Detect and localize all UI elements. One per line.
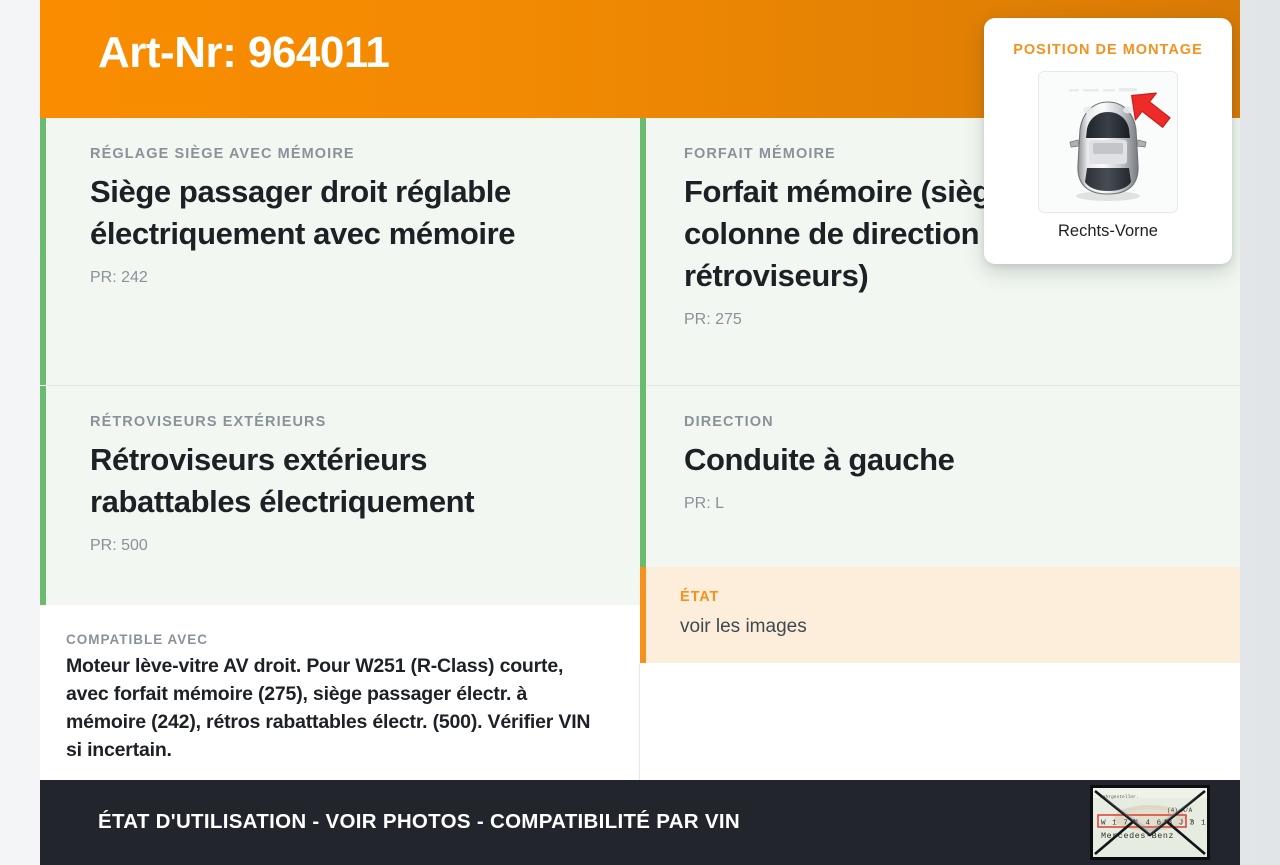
envelope-icon: Fahrgestellnr. (4) A/A W 1 7 1 4 6 3 J 3… (1093, 788, 1207, 857)
spec-pr-code: PR: 275 (684, 311, 1196, 329)
spec-pr-code: PR: 242 (90, 269, 596, 287)
thumbnail-vin-suffix: 7 (1189, 820, 1193, 828)
spec-label: RÉTROVISEURS EXTÉRIEURS (90, 414, 596, 430)
spec-title: Conduite à gauche (684, 439, 1196, 481)
car-diagram (1038, 71, 1178, 213)
divider-left-horizontal (46, 385, 640, 386)
compatibility-text: Moteur lève-vitre AV droit. Pour W251 (R… (66, 653, 596, 765)
spec-title: Rétroviseurs extérieurs rabattables élec… (90, 439, 596, 523)
footer-notice: ÉTAT D'UTILISATION - VOIR PHOTOS - COMPA… (98, 810, 740, 834)
mounting-position-card: POSITION DE MONTAGE (984, 18, 1232, 264)
spec-label: RÉGLAGE SIÈGE AVEC MÉMOIRE (90, 146, 596, 162)
compatibility-block: COMPATIBLE AVEC Moteur lève-vitre AV dro… (40, 606, 640, 780)
spec-cell-mirrors: RÉTROVISEURS EXTÉRIEURS Rétroviseurs ext… (40, 386, 640, 605)
spec-pr-code: PR: 500 (90, 537, 596, 555)
condition-label: ÉTAT (680, 589, 1196, 605)
condition-block: ÉTAT voir les images (640, 567, 1240, 663)
spec-title: Siège passager droit réglable électrique… (90, 171, 596, 255)
divider-right-horizontal (640, 385, 1240, 386)
condition-value: voir les images (680, 614, 1196, 641)
vin-document-thumbnail: Fahrgestellnr. (4) A/A W 1 7 1 4 6 3 J 3… (1090, 785, 1210, 860)
red-arrow-icon (1123, 86, 1175, 132)
product-sheet: Art-Nr: 964011 RÉGLAGE SIÈGE AVEC MÉMOIR… (40, 0, 1240, 865)
spec-cell-seat-memory: RÉGLAGE SIÈGE AVEC MÉMOIRE Siège passage… (40, 118, 640, 385)
compatibility-label: COMPATIBLE AVEC (66, 632, 596, 647)
spec-label: DIRECTION (684, 414, 1196, 430)
spec-cell-steering: DIRECTION Conduite à gauche PR: L (640, 386, 1240, 567)
mounting-position-title: POSITION DE MONTAGE (984, 42, 1232, 58)
page-footer: ÉTAT D'UTILISATION - VOIR PHOTOS - COMPA… (40, 780, 1240, 865)
mounting-position-caption: Rechts-Vorne (984, 222, 1232, 241)
divider-vertical-green (640, 118, 646, 567)
divider-column-vertical (639, 663, 640, 780)
spec-pr-code: PR: L (684, 495, 1196, 513)
page-title: Art-Nr: 964011 (98, 28, 389, 78)
